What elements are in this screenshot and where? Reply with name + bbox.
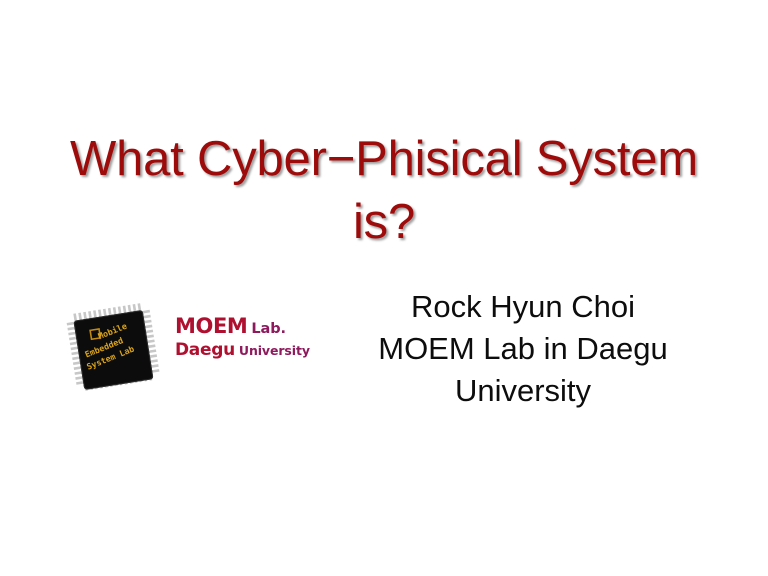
wordmark-moem-text: MOEM [175,314,247,338]
title-placeholder: What Cyber−Phisical System is? [50,128,718,253]
wordmark-daegu-text: Daegu [175,340,235,360]
ic-chip-icon: Mobile Embedded System Lab [57,294,169,400]
page-title: What Cyber−Phisical System is? [50,128,718,253]
wordmark-line-1: MOEMLab. [175,316,325,337]
wordmark-line-2: DaeguUniversity [175,342,325,359]
ic-chip-image: Mobile Embedded System Lab [57,294,169,400]
wordmark-university-text: University [239,343,310,358]
author-name: Rock Hyun Choi [345,286,701,328]
moem-lab-logo: Mobile Embedded System Lab MOEMLab. Daeg… [55,290,330,405]
moem-wordmark: MOEMLab. DaeguUniversity [175,316,325,360]
wordmark-lab-text: Lab. [251,321,286,337]
title-slide: What Cyber−Phisical System is? [0,0,768,576]
author-affiliation: MOEM Lab in Daegu University [345,328,701,412]
subtitle-placeholder: Rock Hyun Choi MOEM Lab in Daegu Univers… [345,286,701,412]
